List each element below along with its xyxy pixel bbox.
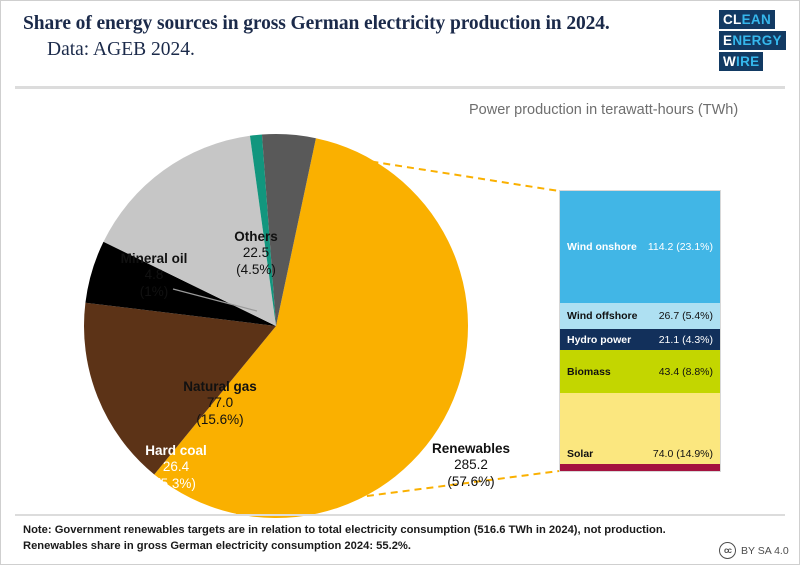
pie-label-hard-coal-value: 26.4 bbox=[121, 459, 231, 475]
bar-segment-wind-offshore: Wind offshore26.7 (5.4%) bbox=[560, 303, 720, 329]
chart-unit-subtitle: Power production in terawatt-hours (TWh) bbox=[469, 102, 738, 118]
header: Share of energy sources in gross German … bbox=[1, 1, 799, 87]
pie-label-others-value: 22.5 bbox=[201, 245, 311, 261]
pie-label-natural-gas-name: Natural gas bbox=[159, 379, 281, 395]
bar-segment-label: Solar bbox=[567, 448, 593, 460]
logo-clean-rest: EAN bbox=[742, 12, 771, 27]
license-label: BY SA 4.0 bbox=[741, 545, 789, 557]
logo-wire-rest: IRE bbox=[736, 54, 759, 69]
bar-segment-biomass: Biomass43.4 (8.8%) bbox=[560, 350, 720, 393]
pie-label-hard-coal: Hard coal 26.4 (5.3%) bbox=[121, 443, 231, 492]
page-title: Share of energy sources in gross German … bbox=[23, 13, 713, 35]
logo-row-wire: WIRE bbox=[719, 52, 763, 71]
pie-label-mineral-oil-value: 4.8 bbox=[99, 267, 209, 283]
pie-label-others: Others 22.5 (4.5%) bbox=[201, 229, 311, 278]
bar-segment-value: 74.0 (14.9%) bbox=[653, 448, 713, 460]
bar-segment-value: 43.4 (8.8%) bbox=[659, 366, 713, 378]
bar-segment-wind-onshore: Wind onshore114.2 (23.1%) bbox=[560, 191, 720, 303]
creative-commons-icon: cc bbox=[719, 542, 736, 559]
logo-wire-cap: W bbox=[723, 54, 736, 69]
pie-label-mineral-oil-pct: (1%) bbox=[99, 284, 209, 300]
pie-label-renewables-name: Renewables bbox=[406, 441, 536, 457]
logo-energy-cap: E bbox=[723, 33, 732, 48]
license-badge: cc BY SA 4.0 bbox=[719, 542, 789, 559]
bar-segment-others-accent bbox=[560, 464, 720, 471]
pie-label-hard-coal-name: Hard coal bbox=[121, 443, 231, 459]
logo-row-energy: ENERGY bbox=[719, 31, 786, 50]
header-divider bbox=[15, 86, 785, 89]
pie-label-renewables-value: 285.2 bbox=[406, 457, 536, 473]
logo-clean-cap: CL bbox=[723, 12, 742, 27]
bar-segment-value: 21.1 (4.3%) bbox=[659, 334, 713, 346]
chart-page: Share of energy sources in gross German … bbox=[0, 0, 800, 565]
pie-chart: Others 22.5 (4.5%) Mineral oil 4.8 (1%) … bbox=[61, 121, 481, 521]
bar-segment-label: Biomass bbox=[567, 366, 611, 378]
pie-label-others-name: Others bbox=[201, 229, 311, 245]
bar-segment-value: 26.7 (5.4%) bbox=[659, 310, 713, 322]
pie-label-renewables-pct: (57.6%) bbox=[406, 474, 536, 490]
bar-segment-label: Hydro power bbox=[567, 334, 631, 346]
bar-segment-label: Wind onshore bbox=[567, 241, 637, 253]
pie-label-others-pct: (4.5%) bbox=[201, 262, 311, 278]
pie-label-mineral-oil: Mineral oil 4.8 (1%) bbox=[99, 251, 209, 300]
bar-segment-hydro-power: Hydro power21.1 (4.3%) bbox=[560, 329, 720, 350]
pie-label-mineral-oil-name: Mineral oil bbox=[99, 251, 209, 267]
pie-label-hard-coal-pct: (5.3%) bbox=[121, 476, 231, 492]
renewables-breakout-stacked-bar: Wind onshore114.2 (23.1%)Wind offshore26… bbox=[559, 190, 721, 472]
logo-energy-rest: NERGY bbox=[732, 33, 782, 48]
pie-label-natural-gas-pct: (15.6%) bbox=[159, 412, 281, 428]
footer-divider bbox=[15, 514, 785, 516]
bar-segment-label: Wind offshore bbox=[567, 310, 637, 322]
pie-label-natural-gas-value: 77.0 bbox=[159, 395, 281, 411]
pie-label-natural-gas: Natural gas 77.0 (15.6%) bbox=[159, 379, 281, 428]
page-subtitle-source: Data: AGEB 2024. bbox=[47, 39, 713, 61]
bar-segment-solar: Solar74.0 (14.9%) bbox=[560, 393, 720, 465]
pie-label-renewables: Renewables 285.2 (57.6%) bbox=[406, 441, 536, 490]
logo-row-clean: CLEAN bbox=[719, 10, 775, 29]
bar-segment-value: 114.2 (23.1%) bbox=[648, 241, 713, 253]
title-block: Share of energy sources in gross German … bbox=[23, 13, 713, 61]
footnote: Note: Government renewables targets are … bbox=[23, 522, 683, 554]
clean-energy-wire-logo: CLEAN ENERGY WIRE bbox=[719, 10, 783, 73]
